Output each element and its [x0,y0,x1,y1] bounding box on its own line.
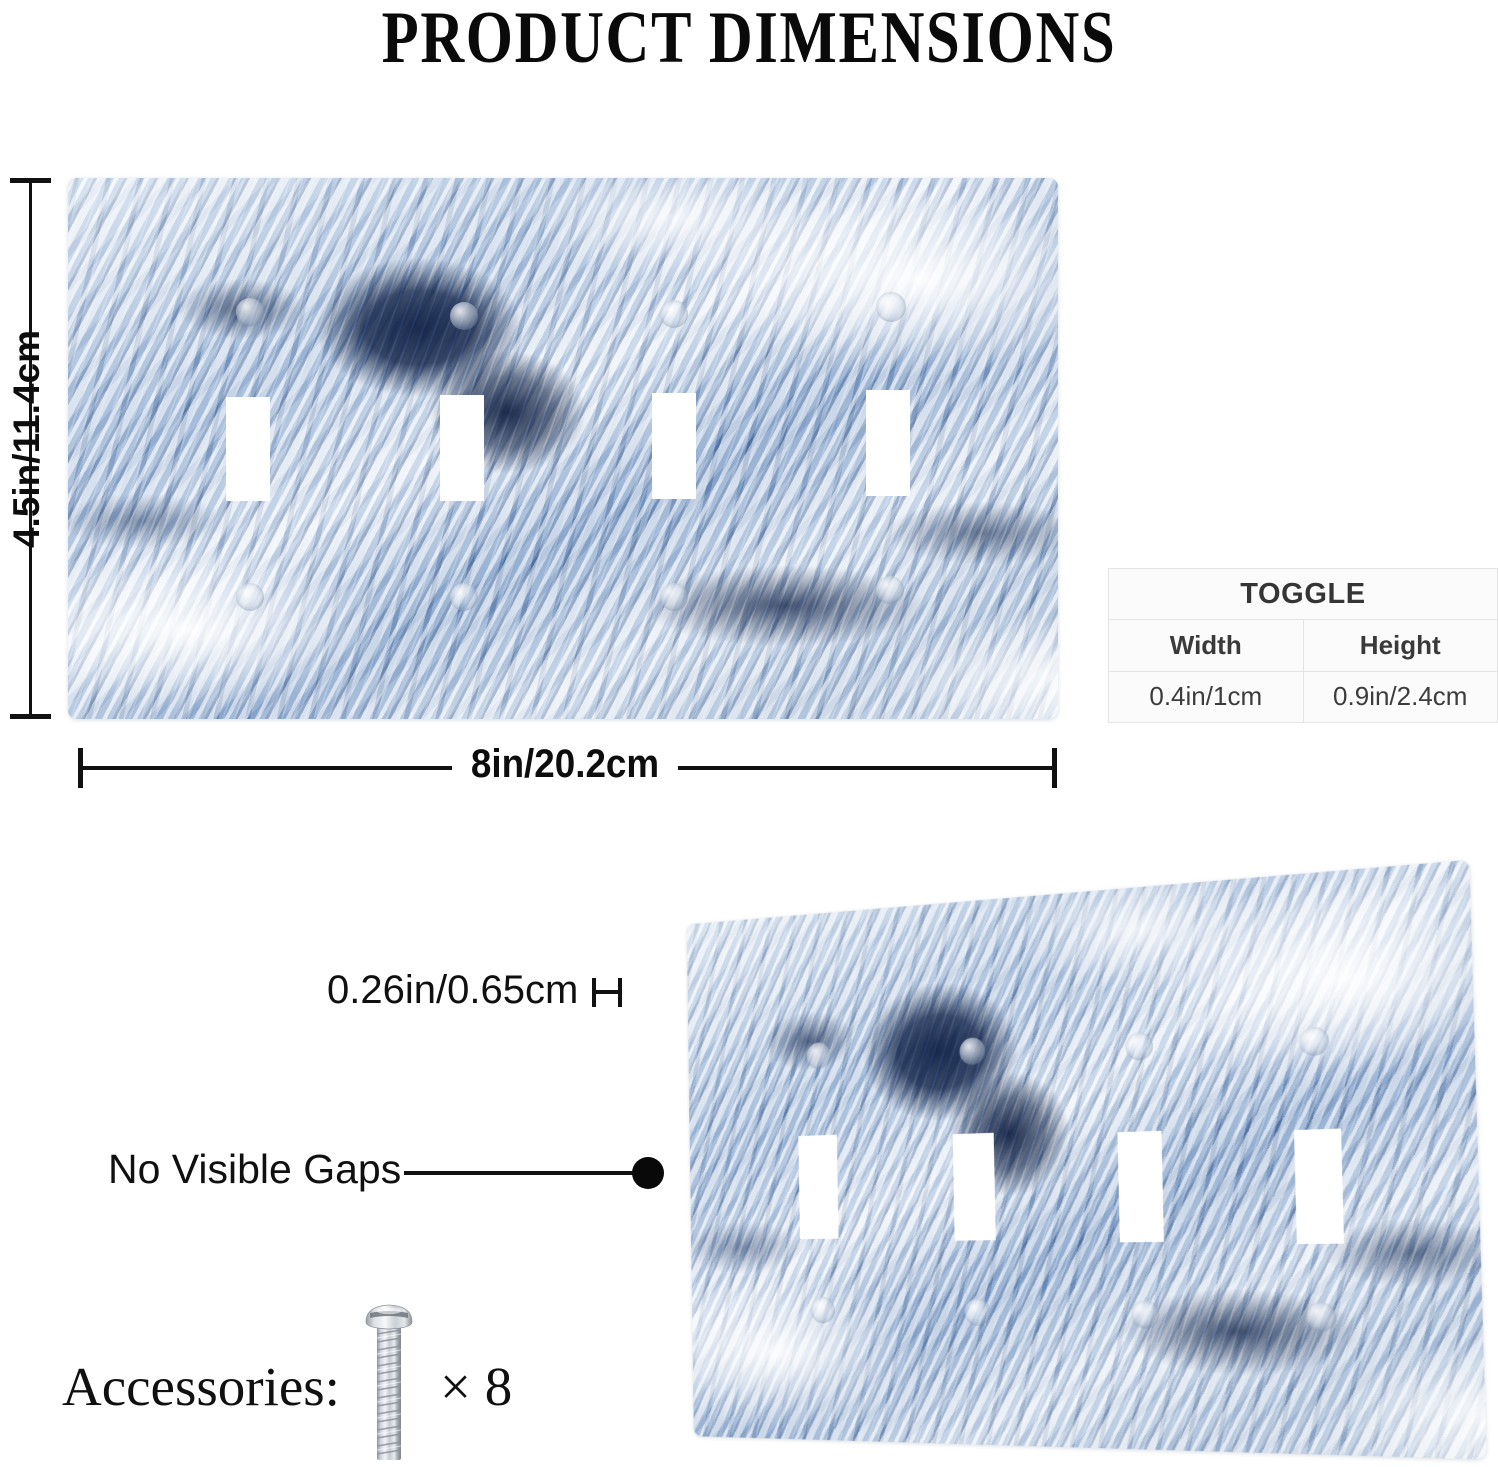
screw-hole [1306,1302,1336,1331]
screw-hole [964,1299,990,1326]
toggle-slot [798,1135,838,1239]
wall-plate-angled-view [687,860,1487,1460]
toggle-slot [953,1133,996,1241]
height-dimension-cap-bottom [10,714,51,719]
toggle-slot [440,395,484,501]
table-value-height: 0.9in/2.4cm [1303,672,1498,722]
screw-hole [876,292,906,322]
screw-hole [1131,1300,1159,1328]
screw-icon [364,1300,414,1462]
wall-plate-angled-view-container [592,858,1478,1458]
table-header-width: Width [1109,620,1303,670]
toggle-table-title: TOGGLE [1240,578,1366,611]
toggle-dimensions-table: TOGGLE Width Height 0.4in/1cm 0.9in/2.4c… [1108,568,1498,723]
screw-hole [236,583,264,611]
screw-hole [660,583,688,611]
screw-hole [450,302,478,330]
wall-plate-front-view [68,178,1058,719]
toggle-slot [866,390,910,496]
table-row-values: 0.4in/1cm 0.9in/2.4cm [1109,671,1497,722]
screw-hole [450,583,478,611]
accessories-label: Accessories: [62,1355,340,1418]
screw-hole [876,576,904,604]
width-dimension-line-right [678,766,1055,770]
table-title-cell: TOGGLE [1109,569,1497,619]
no-visible-gaps-label: No Visible Gaps [108,1146,401,1193]
screw-hole [811,1297,836,1324]
accessories-quantity: × 8 [440,1355,512,1418]
thickness-caliper-bar [592,990,622,994]
height-dimension-cap-top [10,178,51,183]
width-dimension-line-left [80,766,452,770]
no-visible-gaps-pointer-dot [632,1157,664,1189]
screw-hole [236,298,264,326]
table-row-headers: Width Height [1109,619,1497,670]
width-dimension-label: 8in/20.2cm [461,742,669,787]
toggle-slot [1117,1131,1163,1243]
toggle-slot [1294,1129,1344,1245]
thickness-label: 0.26in/0.65cm [327,968,578,1013]
header-width-label: Width [1170,630,1242,661]
height-dimension-label: 4.5in/11.4cm [6,289,48,589]
no-visible-gaps-leader-line [404,1171,649,1175]
toggle-slot [652,393,696,499]
value-width-label: 0.4in/1cm [1149,681,1262,712]
page-title: PRODUCT DIMENSIONS [135,0,1363,81]
toggle-slot [226,397,270,501]
table-row-title: TOGGLE [1109,569,1497,619]
table-value-width: 0.4in/1cm [1109,672,1303,722]
header-height-label: Height [1360,630,1441,661]
table-header-height: Height [1303,620,1498,670]
value-height-label: 0.9in/2.4cm [1333,681,1467,712]
screw-hole [660,300,688,328]
